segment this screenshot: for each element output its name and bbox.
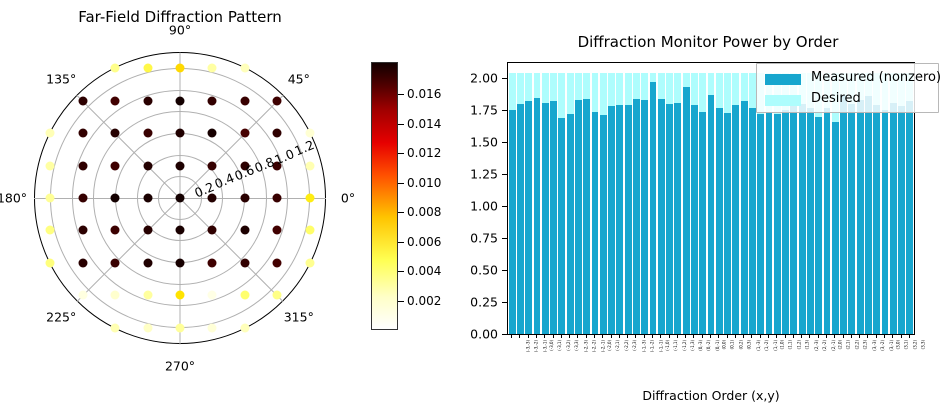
bar-x-tick-mark [660,334,661,338]
bar-x-tick-label: (3,-1) [889,340,894,351]
bar-group [724,63,731,334]
bar-group [525,63,532,334]
bar-x-tick-label: (-1,1) [673,340,678,351]
colorbar-tick-mark [398,183,404,184]
bar-measured [575,100,582,334]
polar-point [143,226,152,235]
bar-x-tick-label: (-1,-3) [641,340,646,352]
polar-point [176,291,185,300]
colorbar-tick-label: 0.008 [407,205,441,219]
bar-measured [749,108,756,334]
bar-measured [757,114,764,334]
bar-group [575,63,582,334]
bar-x-tick-label: (2,1) [846,340,851,349]
polar-point [46,194,55,203]
colorbar-tick-mark [398,94,404,95]
bar-measured [766,112,773,334]
bar-x-tick-mark [511,334,512,338]
colorbar-tick-label: 0.014 [407,117,441,131]
bar-x-tick-label: (0,-2) [706,340,711,351]
bar-y-tick-mark [502,174,507,175]
bar-x-tick-label: (0,0) [721,340,726,349]
bar-x-tick-mark [561,334,562,338]
polar-angle-tick-270: 270° [165,359,195,374]
bar-measured [650,82,657,334]
bar-group [600,63,607,334]
bar-group [633,63,640,334]
polar-point [176,323,185,332]
bar-x-tick-mark [760,334,761,338]
bar-x-tick-mark [776,334,777,338]
polar-angle-tick-135: 135° [46,72,76,87]
bar-x-tick-mark [685,334,686,338]
bar-x-tick-label: (-2,1) [615,340,620,351]
polar-point [111,258,120,267]
polar-point [273,226,282,235]
bar-y-tick-mark [502,302,507,303]
polar-point [111,323,120,332]
polar-point [143,194,152,203]
colorbar-tick-mark [398,153,404,154]
colorbar-tick-mark [398,271,404,272]
bar-measured [807,108,814,334]
polar-point [46,129,55,138]
bar-x-tick-mark [619,334,620,338]
bar-y-tick-mark [502,334,507,335]
bar-x-tick-mark [809,334,810,338]
bar-measured [525,101,532,334]
polar-point [78,96,87,105]
bar-measured [857,100,864,334]
bar-x-tick-label: (-2,0) [607,340,612,351]
bar-x-axis-label: Diffraction Order (x,y) [507,388,915,403]
bar-measured [666,104,673,334]
bar-measured [534,98,541,334]
bar-measured [616,105,623,334]
bar-x-tick-mark [519,334,520,338]
polar-grid-spoke [180,53,181,199]
bar-measured [890,103,897,334]
bar-x-tick-label: (-1,2) [681,340,686,351]
bar-x-tick-label: (1,0) [779,340,784,349]
bar-x-tick-label: (3,-3) [872,340,877,351]
bar-y-tick-label: 0.25 [470,295,498,310]
bar-measured [558,118,565,334]
polar-point [46,226,55,235]
bar-x-tick-label: (1,1) [788,340,793,349]
bar-x-tick-mark [801,334,802,338]
bar-group [608,63,615,334]
bar-x-tick-mark [644,334,645,338]
bar-x-tick-mark [602,334,603,338]
bar-measured [832,122,839,334]
bar-measured [641,100,648,334]
bar-measured [873,105,880,334]
bar-chart-title: Diffraction Monitor Power by Order [480,33,936,51]
bar-x-tick-label: (-3,-2) [534,340,539,352]
polar-point [273,194,282,203]
polar-point [143,291,152,300]
bar-y-tick-label: 0.75 [470,231,498,246]
bar-measured [898,106,905,334]
bar-group [650,63,657,334]
polar-point [143,64,152,73]
colorbar-tick-label: 0.006 [407,235,441,249]
bar-group [616,63,623,334]
polar-angle-tick-0: 0° [341,191,355,206]
bar-measured [799,104,806,334]
polar-point [240,96,249,105]
bar-measured [732,105,739,334]
bar-group [641,63,648,334]
polar-point [111,161,120,170]
bar-x-tick-mark [743,334,744,338]
bar-y-tick-label: 2.00 [470,71,498,86]
bar-x-tick-mark [727,334,728,338]
polar-point [208,226,217,235]
polar-angle-tick-315: 315° [284,309,314,324]
bar-chart-legend[interactable]: Measured (nonzero)Desired [756,63,939,113]
bar-measured [716,108,723,334]
polar-point [111,226,120,235]
bar-x-tick-label: (3,0) [895,340,900,349]
polar-point [78,226,87,235]
polar-point [273,129,282,138]
bar-measured [567,114,574,334]
bar-measured [774,114,781,334]
bar-x-tick-label: (0,-3) [698,340,703,351]
polar-point [143,96,152,105]
bar-measured [782,110,789,334]
bar-group [567,63,574,334]
bar-x-tick-label: (-3,1) [557,340,562,351]
polar-point [208,96,217,105]
polar-point [111,129,120,138]
polar-point [143,258,152,267]
polar-point [78,161,87,170]
bar-measured [674,103,681,334]
colorbar-tick-mark [398,242,404,243]
bar-x-tick-mark [818,334,819,338]
bar-group [699,63,706,334]
bar-group [550,63,557,334]
bar-group [558,63,565,334]
bar-x-tick-mark [569,334,570,338]
bar-x-tick-mark [528,334,529,338]
bar-x-tick-mark [635,334,636,338]
polar-point [240,226,249,235]
bar-y-tick-mark [502,110,507,111]
polar-point [143,323,152,332]
bar-measured [517,104,524,334]
bar-measured [741,101,748,334]
polar-point [208,291,217,300]
bar-measured [691,105,698,334]
bar-measured [550,101,557,334]
polar-point [176,64,185,73]
polar-point [78,194,87,203]
bar-measured [542,103,549,334]
polar-angle-tick-45: 45° [288,72,310,87]
bar-x-tick-mark [859,334,860,338]
legend-swatch [765,74,801,85]
bar-group [517,63,524,334]
colorbar-tick-mark [398,124,404,125]
polar-point [273,291,282,300]
bar-x-tick-label: (-3,3) [574,340,579,351]
bar-x-tick-mark [553,334,554,338]
polar-point [208,129,217,138]
bar-x-tick-mark [594,334,595,338]
bar-measured [592,112,599,334]
bar-x-tick-mark [702,334,703,338]
bar-measured [848,104,855,334]
bar-x-tick-label: (-2,3) [632,340,637,351]
polar-axes: 0.20.40.60.81.01.2 [34,52,326,344]
polar-point [208,258,217,267]
polar-point [176,161,185,170]
bar-measured [608,106,615,334]
colorbar-tick-label: 0.004 [407,264,441,278]
polar-point [208,64,217,73]
polar-point [111,291,120,300]
polar-point [143,161,152,170]
bar-group [732,63,739,334]
polar-point [78,291,87,300]
bar-measured [865,96,872,334]
bar-x-tick-mark [851,334,852,338]
bar-x-tick-label: (-3,-1) [542,340,547,352]
polar-point [46,161,55,170]
polar-point [240,258,249,267]
bar-x-tick-mark [735,334,736,338]
bar-group [583,63,590,334]
bar-measured [633,99,640,334]
polar-point [143,129,152,138]
polar-point [208,323,217,332]
bar-x-tick-mark [710,334,711,338]
bar-measured [708,95,715,334]
polar-point [78,258,87,267]
polar-point [240,64,249,73]
polar-point [208,161,217,170]
polar-point [305,194,314,203]
colorbar-tick-label: 0.016 [407,87,441,101]
colorbar-tick-mark [398,212,404,213]
bar-x-tick-mark [834,334,835,338]
bar-group [741,63,748,334]
bar-x-tick-label: (-2,-1) [600,340,605,352]
polar-point [240,129,249,138]
bar-group [534,63,541,334]
bar-x-tick-label: (-1,-1) [658,340,663,352]
bar-group [542,63,549,334]
bar-x-tick-label: (1,3) [804,340,809,349]
polar-point [176,96,185,105]
bar-x-tick-label: (2,0) [837,340,842,349]
bar-y-tick-label: 1.75 [470,103,498,118]
bar-x-tick-label: (-2,-3) [583,340,588,352]
colorbar-gradient [371,62,398,330]
bar-group [658,63,665,334]
bar-x-tick-mark [884,334,885,338]
figure-canvas: Far-Field Diffraction Pattern 0.20.40.60… [0,0,940,411]
bar-x-tick-label: (3,-2) [880,340,885,351]
bar-x-tick-mark [627,334,628,338]
bar-x-tick-mark [867,334,868,338]
bar-x-tick-mark [892,334,893,338]
bar-x-tick-label: (0,3) [746,340,751,349]
bar-measured [840,95,847,334]
polar-angle-tick-225: 225° [46,309,76,324]
bar-x-tick-label: (-2,2) [623,340,628,351]
bar-measured [815,117,822,334]
bar-y-tick-label: 1.50 [470,135,498,150]
bar-x-tick-label: (1,2) [796,340,801,349]
bar-group [592,63,599,334]
bar-y-tick-mark [502,78,507,79]
bar-x-tick-label: (0,1) [730,340,735,349]
bar-group [708,63,715,334]
bar-measured [882,110,889,334]
bar-x-tick-mark [751,334,752,338]
bar-y-tick-mark [502,270,507,271]
bar-measured [509,110,516,334]
bar-measured [625,105,632,334]
polar-point [111,194,120,203]
polar-grid-spoke [34,198,180,199]
bar-x-tick-mark [901,334,902,338]
bar-x-tick-mark [611,334,612,338]
bar-x-tick-mark [785,334,786,338]
bar-x-tick-label: (1,-2) [764,340,769,351]
bar-x-tick-label: (3,1) [904,340,909,349]
polar-point [111,64,120,73]
bar-x-tick-mark [652,334,653,338]
bar-y-tick-mark [502,238,507,239]
bar-y-tick-label: 0.00 [470,327,498,342]
polar-point [240,194,249,203]
polar-point [305,161,314,170]
bar-x-tick-label: (-1,0) [665,340,670,351]
bar-x-tick-mark [876,334,877,338]
polar-point [305,226,314,235]
polar-point [176,194,185,203]
bar-y-tick-mark [502,142,507,143]
bar-x-tick-label: (0,-1) [715,340,720,351]
polar-point [176,129,185,138]
colorbar-tick-label: 0.012 [407,146,441,160]
bar-x-tick-mark [586,334,587,338]
bar-x-tick-label: (2,-2) [822,340,827,351]
bar-x-tick-label: (-1,3) [690,340,695,351]
colorbar-tick-mark [398,301,404,302]
bar-x-tick-mark [826,334,827,338]
bar-x-tick-mark [793,334,794,338]
bar-x-tick-label: (-3,-3) [525,340,530,352]
bar-group [749,63,756,334]
polar-point [78,129,87,138]
bar-x-tick-mark [768,334,769,338]
bar-x-tick-label: (3,3) [920,340,925,349]
bar-group [691,63,698,334]
bar-group [683,63,690,334]
polar-angle-tick-180: 180° [0,191,27,206]
bar-group [674,63,681,334]
bar-measured [699,112,706,334]
polar-point [176,258,185,267]
colorbar-panel: 0.0020.0040.0060.0080.0100.0120.0140.016 [364,0,460,411]
bar-x-tick-label: (-3,0) [549,340,554,351]
polar-point [240,323,249,332]
bar-x-tick-mark [669,334,670,338]
bar-x-tick-mark [909,334,910,338]
polar-point [111,96,120,105]
bar-measured [790,106,797,334]
bar-group [666,63,673,334]
polar-point [273,96,282,105]
bar-x-tick-label: (2,2) [854,340,859,349]
legend-swatch [765,95,801,106]
polar-point [46,258,55,267]
bar-x-tick-label: (-1,-2) [650,340,655,352]
bar-y-tick-label: 1.00 [470,199,498,214]
polar-point [273,258,282,267]
bar-group [716,63,723,334]
bar-x-tick-mark [693,334,694,338]
bar-x-tick-label: (1,-3) [756,340,761,351]
polar-point [240,291,249,300]
bar-x-tick-mark [577,334,578,338]
colorbar-tick-label: 0.002 [407,294,441,308]
bar-measured [658,99,665,334]
polar-plot-panel: Far-Field Diffraction Pattern 0.20.40.60… [0,0,360,411]
bar-x-tick-mark [544,334,545,338]
bar-x-tick-mark [843,334,844,338]
bar-group [509,63,516,334]
polar-angle-tick-90: 90° [169,23,191,38]
bar-y-tick-label: 0.50 [470,263,498,278]
bar-x-tick-label: (0,2) [738,340,743,349]
bar-x-tick-label: (-2,-2) [592,340,597,352]
bar-x-tick-label: (2,-3) [814,340,819,351]
bar-y-tick-mark [502,206,507,207]
bar-x-tick-mark [536,334,537,338]
bar-measured [906,101,913,334]
legend-label: Desired [811,90,861,108]
bar-x-tick-label: (-3,2) [565,340,570,351]
bar-measured [824,108,831,334]
polar-point [176,226,185,235]
bar-chart-panel: Diffraction Monitor Power by Order 0.000… [460,0,940,411]
bar-x-tick-label: (1,-1) [773,340,778,351]
colorbar-tick-label: 0.010 [407,176,441,190]
bar-measured [583,99,590,334]
bar-x-tick-label: (3,2) [912,340,917,349]
legend-label: Measured (nonzero) [811,69,940,87]
bar-measured [683,87,690,334]
bar-x-tick-label: (2,3) [862,340,867,349]
bar-y-tick-label: 1.25 [470,167,498,182]
polar-point [305,258,314,267]
bar-measured [600,115,607,334]
bar-measured [724,113,731,334]
bar-x-tick-label: (2,-1) [831,340,836,351]
bar-x-tick-mark [677,334,678,338]
bar-x-tick-mark [718,334,719,338]
bar-group [625,63,632,334]
